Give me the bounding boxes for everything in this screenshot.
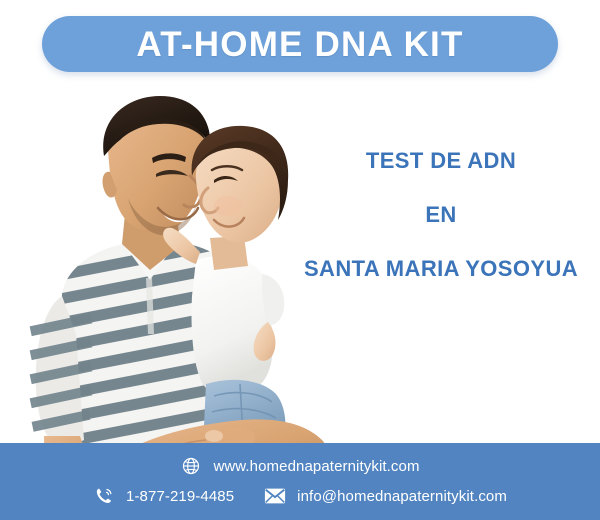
phone-text: 1-877-219-4485 — [126, 489, 234, 504]
poster-title: AT-HOME DNA KIT — [136, 27, 463, 62]
poster-canvas: AT-HOME DNA KIT — [0, 0, 600, 520]
phone-icon — [93, 485, 115, 507]
envelope-icon — [264, 485, 286, 507]
family-photo — [0, 84, 330, 484]
contact-phone[interactable]: 1-877-219-4485 — [93, 485, 234, 507]
headline-line-3: SANTA MARIA YOSOYUA — [286, 258, 596, 280]
footer-contact-bar: www.homednapaternitykit.com 1-877-219-44… — [0, 443, 600, 520]
family-photo-illustration — [0, 84, 330, 484]
footer-row-website: www.homednapaternitykit.com — [0, 455, 600, 477]
footer-row-phone-email: 1-877-219-4485 info@homednapaternitykit.… — [0, 485, 600, 507]
email-text: info@homednapaternitykit.com — [297, 489, 507, 504]
header-band: AT-HOME DNA KIT — [0, 0, 600, 88]
globe-icon — [180, 455, 202, 477]
headline-line-2: EN — [286, 204, 596, 226]
contact-email[interactable]: info@homednapaternitykit.com — [264, 485, 507, 507]
headline-block: TEST DE ADN EN SANTA MARIA YOSOYUA — [286, 150, 596, 280]
contact-website[interactable]: www.homednapaternitykit.com — [180, 455, 419, 477]
headline-line-1: TEST DE ADN — [286, 150, 596, 172]
title-pill: AT-HOME DNA KIT — [42, 16, 558, 72]
website-text: www.homednapaternitykit.com — [213, 459, 419, 474]
